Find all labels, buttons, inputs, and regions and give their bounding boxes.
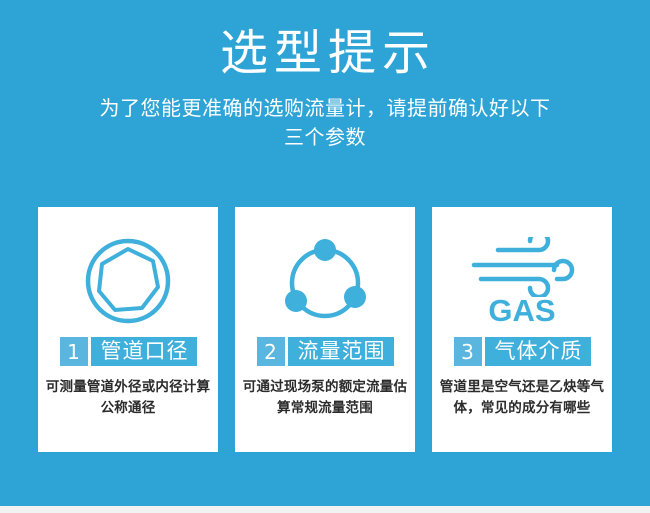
tips-card-list: 1 管道口径 可测量管道外径或内径计算公称通径 2 流量范围 可通过现场泵的额定… <box>38 207 612 452</box>
card-description: 可通过现场泵的额定流量估算常规流量范围 <box>239 377 411 419</box>
card-badge: 1 管道口径 <box>60 337 197 366</box>
wind-lines-glyph <box>467 237 577 297</box>
bottom-strip <box>0 506 650 513</box>
pipe-diameter-icon <box>82 227 174 335</box>
gas-label: GAS <box>488 295 555 326</box>
flow-range-glyph <box>279 235 371 327</box>
page-title: 选型提示 <box>0 24 650 82</box>
card-badge: 2 流量范围 <box>257 337 394 366</box>
card-description: 可测量管道外径或内径计算公称通径 <box>42 377 214 419</box>
tips-card-pipe-diameter: 1 管道口径 可测量管道外径或内径计算公称通径 <box>38 207 218 452</box>
selection-tips-banner: 选型提示 为了您能更准确的选购流量计，请提前确认好以下三个参数 1 管道口径 可… <box>0 0 650 506</box>
flow-range-icon <box>279 227 371 335</box>
gas-medium-icon: GAS <box>467 227 577 335</box>
page-subtitle: 为了您能更准确的选购流量计，请提前确认好以下三个参数 <box>95 94 555 152</box>
tips-card-flow-range: 2 流量范围 可通过现场泵的额定流量估算常规流量范围 <box>235 207 415 452</box>
card-title: 流量范围 <box>288 337 394 366</box>
tips-card-gas-medium: GAS 3 气体介质 管道里是空气还是乙炔等气体，常见的成分有哪些 <box>432 207 612 452</box>
card-badge: 3 气体介质 <box>454 337 591 366</box>
card-description: 管道里是空气还是乙炔等气体，常见的成分有哪些 <box>436 377 608 419</box>
card-number: 1 <box>60 337 88 366</box>
banner-header: 选型提示 为了您能更准确的选购流量计，请提前确认好以下三个参数 <box>0 0 650 152</box>
card-title: 气体介质 <box>485 337 591 366</box>
card-number: 2 <box>257 337 285 366</box>
pipe-diameter-glyph <box>82 235 174 327</box>
card-number: 3 <box>454 337 482 366</box>
card-title: 管道口径 <box>91 337 197 366</box>
